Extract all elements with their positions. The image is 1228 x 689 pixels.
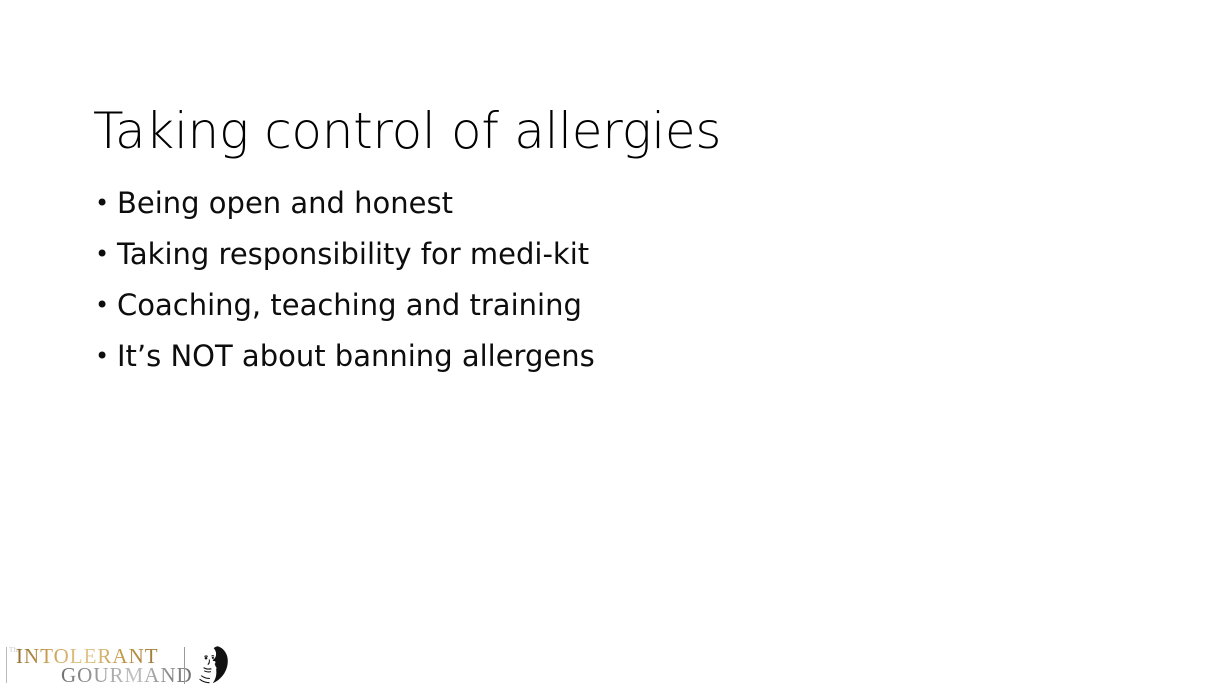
bullet-point-icon: • [95, 284, 109, 326]
list-item-label: Being open and honest [117, 182, 453, 224]
list-item: • Being open and honest [93, 182, 1133, 233]
bullet-point-icon: • [95, 182, 109, 224]
page-title: Taking control of allergies [93, 100, 1133, 162]
list-item-label: Taking responsibility for medi-kit [117, 233, 589, 275]
list-item: • It’s NOT about banning allergens [93, 335, 1133, 386]
list-item-label: It’s NOT about banning allergens [117, 335, 595, 377]
slide-canvas: Taking control of allergies • Being open… [0, 0, 1228, 689]
list-item: • Taking responsibility for medi-kit [93, 233, 1133, 284]
bullet-list: • Being open and honest • Taking respons… [93, 182, 1133, 386]
logo-word-gourmand: GOURMAND [61, 665, 193, 686]
list-item: • Coaching, teaching and training [93, 284, 1133, 335]
logo-divider [184, 647, 185, 684]
face-portrait-icon [192, 645, 232, 685]
logo-left-rule [6, 647, 7, 683]
brand-logo: The INTOLERANT GOURMAND [6, 643, 230, 687]
bullet-point-icon: • [95, 233, 109, 275]
bullet-point-icon: • [95, 335, 109, 377]
list-item-label: Coaching, teaching and training [117, 284, 582, 326]
